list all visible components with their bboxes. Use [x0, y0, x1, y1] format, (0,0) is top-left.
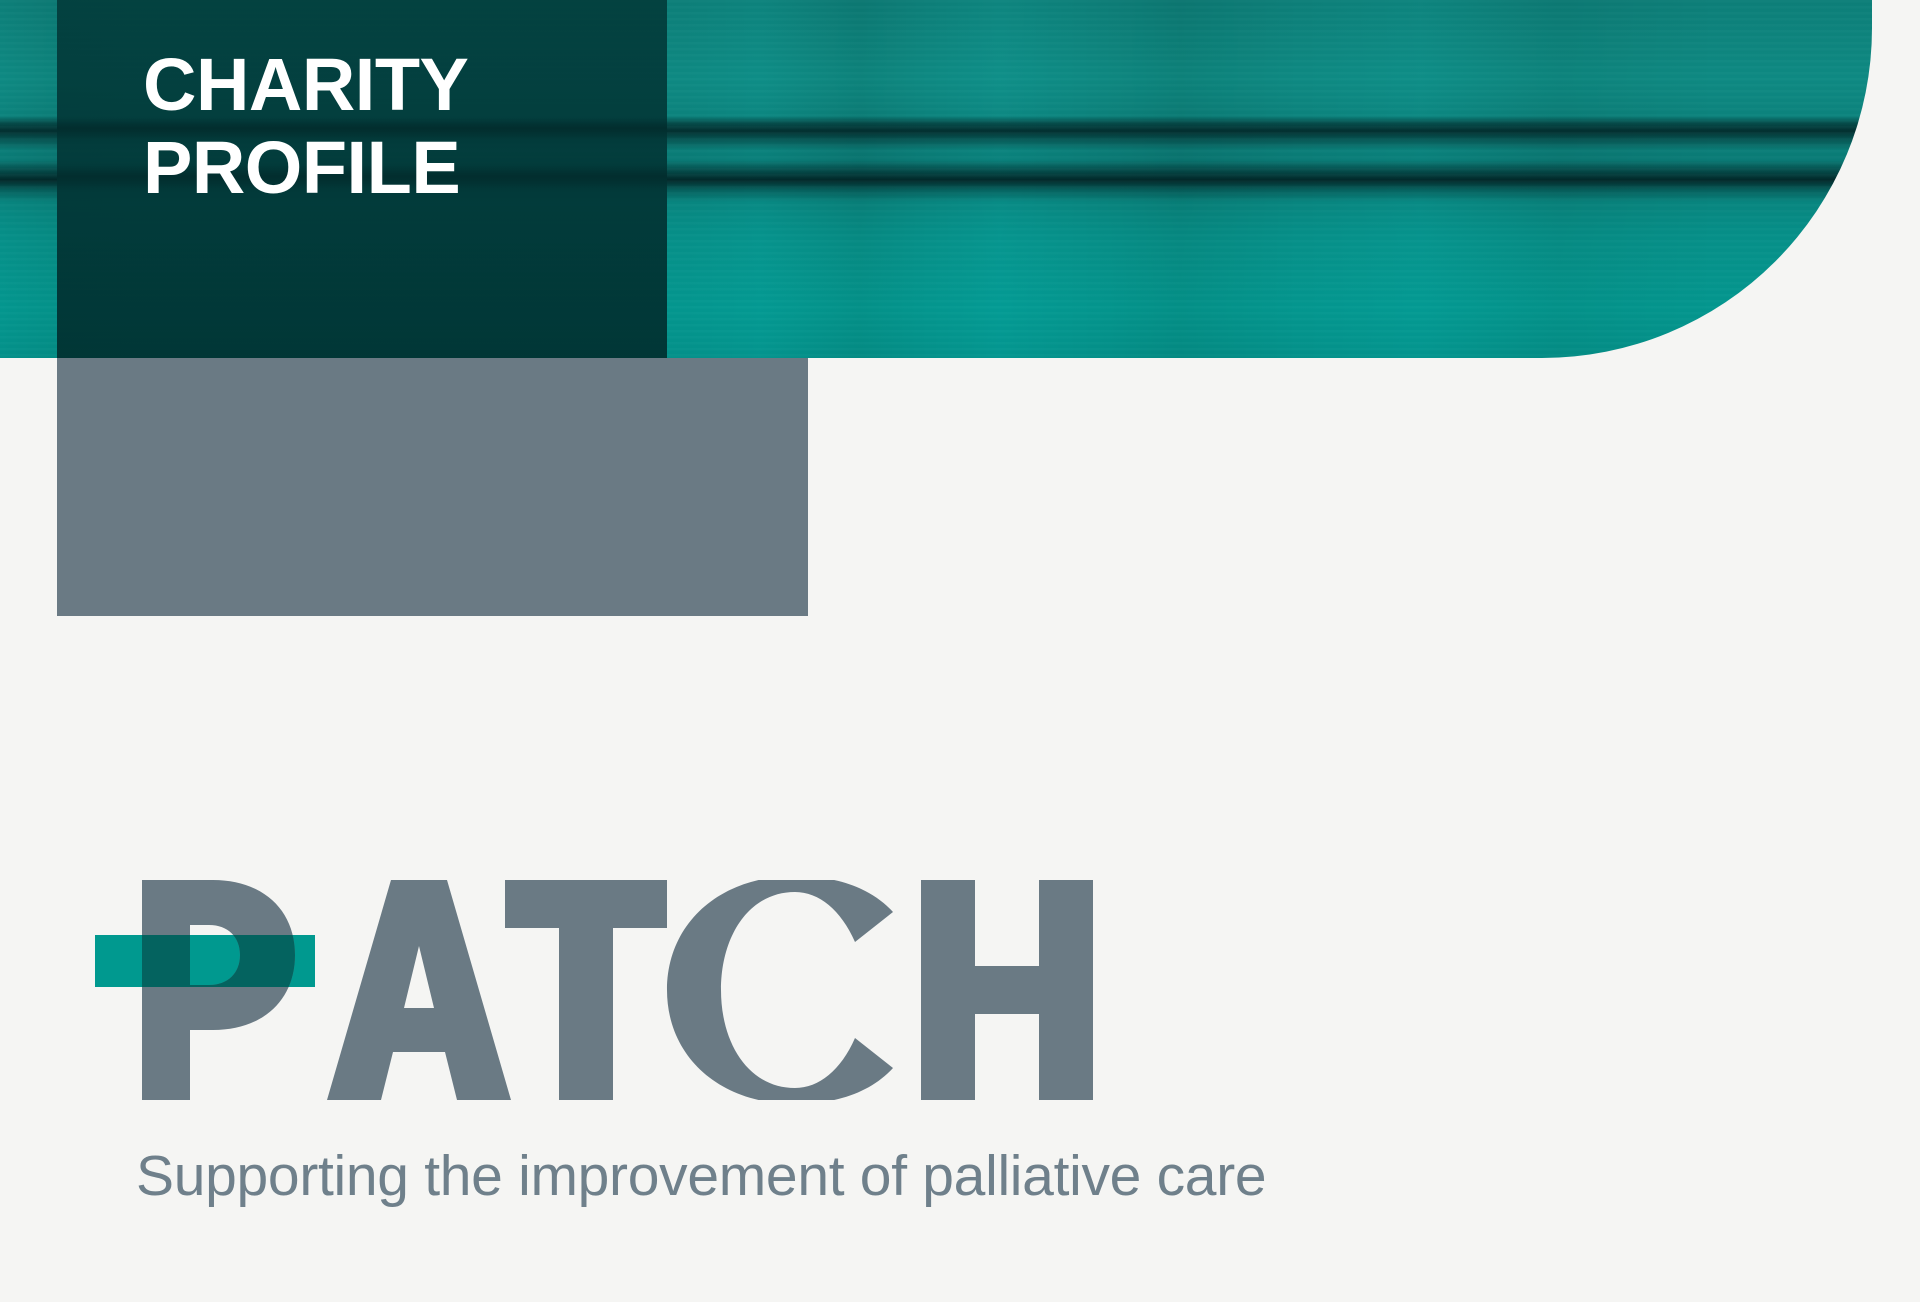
logo-letter-a	[327, 880, 511, 1100]
page-title-line-2: PROFILE	[143, 127, 663, 210]
brand-tagline: Supporting the improvement of palliative…	[136, 1148, 1266, 1205]
logo-letter-h	[921, 880, 1093, 1100]
charity-profile-page: CHARITY PROFILE	[0, 0, 1920, 1302]
patch-wordmark-svg	[95, 880, 1095, 1100]
patch-logo	[95, 880, 1095, 1100]
logo-letter-t	[505, 880, 667, 1100]
logo-letter-p	[142, 880, 295, 1100]
logo-letter-c	[667, 880, 893, 1100]
hero-banner: CHARITY PROFILE	[0, 0, 1872, 358]
page-title: CHARITY PROFILE	[143, 44, 663, 210]
brand-lockup: Supporting the improvement of palliative…	[95, 880, 1695, 1240]
gray-accent-block	[57, 358, 808, 616]
page-title-line-1: CHARITY	[143, 44, 663, 127]
